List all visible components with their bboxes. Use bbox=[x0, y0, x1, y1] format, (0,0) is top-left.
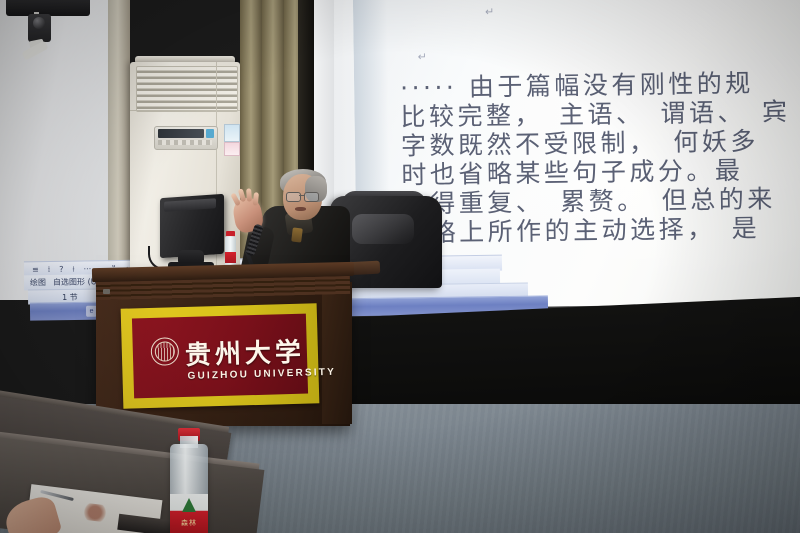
air-conditioner-indicator bbox=[206, 129, 214, 138]
pilcrow-mark: ↵ bbox=[418, 50, 427, 63]
camera-lens-icon bbox=[33, 17, 45, 29]
university-name-cn: 贵州大学 bbox=[184, 332, 305, 372]
warning-label-sticker bbox=[224, 142, 240, 156]
finger bbox=[253, 192, 259, 205]
toolbar-glyph: ? bbox=[59, 265, 63, 274]
pilcrow-mark: ↵ bbox=[485, 5, 494, 18]
glasses-left-lens bbox=[286, 192, 301, 202]
air-conditioner-display bbox=[158, 129, 204, 138]
document-line: 策略上所作的主动选择， 是 bbox=[402, 209, 760, 250]
toolbar-glyph: ⁞ bbox=[48, 265, 51, 274]
paper-printed-mark bbox=[81, 502, 109, 522]
toolbar-glyph: ··· bbox=[84, 264, 92, 273]
air-conditioner-buttons[interactable] bbox=[158, 140, 212, 145]
lectern-button[interactable] bbox=[103, 289, 110, 294]
chair-highlight bbox=[352, 214, 414, 244]
toolbar-glyph: ⟊ bbox=[72, 264, 74, 274]
draw-menu-label[interactable]: 绘图 bbox=[30, 277, 46, 288]
toolbar-glyph: ≡ bbox=[32, 265, 39, 274]
speaker-glasses bbox=[286, 192, 320, 200]
sign-panel: 贵州大学 GUIZHOU UNIVERSITY bbox=[132, 314, 308, 399]
status-section: 1 节 bbox=[62, 291, 78, 302]
university-seal-icon bbox=[150, 337, 179, 366]
speaker-mouth bbox=[295, 207, 306, 211]
finger bbox=[246, 188, 252, 201]
bottle-brand-text: 森林 bbox=[172, 518, 206, 528]
speaker-scarf bbox=[291, 227, 303, 242]
energy-label-sticker bbox=[224, 124, 240, 142]
lectern-side-panel bbox=[322, 282, 352, 424]
back-wall-left bbox=[0, 0, 122, 300]
glasses-right-lens bbox=[304, 192, 319, 202]
air-conditioner-seam bbox=[130, 110, 240, 111]
tree-logo-icon bbox=[182, 498, 196, 512]
wall-pillar bbox=[108, 0, 130, 300]
lecture-hall-photo: ↵ ↵ ····· 由于篇幅没有刚性的规 比较完整， 主语、 谓语、 宾 字数既… bbox=[0, 0, 800, 533]
bottle-label bbox=[225, 252, 236, 263]
air-conditioner-louvers bbox=[136, 66, 238, 112]
glasses-bridge bbox=[299, 195, 304, 196]
university-sign: 贵州大学 GUIZHOU UNIVERSITY bbox=[121, 303, 320, 408]
seal-inner-ring bbox=[155, 341, 176, 362]
